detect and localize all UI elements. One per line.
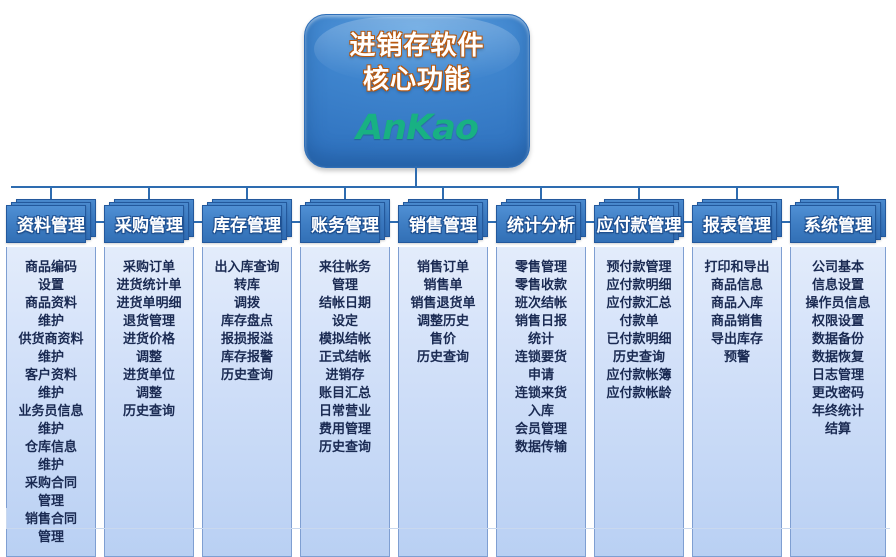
column-header-6[interactable]: 统计分析 [496,199,586,245]
column-header-label: 销售管理 [398,205,488,241]
column-header-label: 账务管理 [300,205,390,241]
column-item[interactable]: 维护 [11,313,91,330]
column-item[interactable]: 零售收款 [501,277,581,294]
column-item[interactable]: 调整历史 [403,313,483,330]
column-item[interactable]: 应付款汇总 [599,295,679,312]
column-item[interactable]: 商品入库 [697,295,777,312]
column-item[interactable]: 日常营业 [305,403,385,420]
column-item[interactable]: 销售单 [403,277,483,294]
column-item[interactable]: 采购合同 [11,475,91,492]
column-header-3[interactable]: 库存管理 [202,199,292,245]
column-item[interactable]: 调整 [109,349,189,366]
column-item[interactable]: 结帐日期 [305,295,385,312]
column-item[interactable]: 销售退货单 [403,295,483,312]
column-item[interactable]: 维护 [11,421,91,438]
root-node[interactable]: 进销存软件 核心功能 AnKao [304,14,530,168]
root-title: 进销存软件 核心功能 [305,15,529,98]
column-item[interactable]: 业务员信息 [11,403,91,420]
column-header-5[interactable]: 销售管理 [398,199,488,245]
column-item[interactable]: 应付款帐簿 [599,367,679,384]
column-item[interactable]: 公司基本 [795,259,881,276]
column-item[interactable]: 历史查询 [599,349,679,366]
column-item[interactable]: 班次结帐 [501,295,581,312]
column-body-7: 预付款管理应付款明细应付款汇总付款单已付款明细历史查询应付款帐簿应付款帐龄 [594,247,684,557]
frame-left-edge [6,508,7,529]
column-header-7[interactable]: 应付款管理 [594,199,684,245]
column-8: 报表管理打印和导出商品信息商品入库商品销售导出库存预警 [692,199,782,557]
column-item[interactable]: 设置 [11,277,91,294]
column-item[interactable]: 售价 [403,331,483,348]
column-body-2: 采购订单进货统计单进货单明细退货管理进货价格调整进货单位调整历史查询 [104,247,194,557]
column-item[interactable]: 维护 [11,385,91,402]
column-header-label: 库存管理 [202,205,292,241]
column-item[interactable]: 打印和导出 [697,259,777,276]
column-item[interactable]: 仓库信息 [11,439,91,456]
column-header-1[interactable]: 资料管理 [6,199,96,245]
column-item[interactable]: 销售日报 [501,313,581,330]
column-item[interactable]: 进货单位 [109,367,189,384]
column-item[interactable]: 模拟结帐 [305,331,385,348]
column-item[interactable]: 历史查询 [207,367,287,384]
column-item[interactable]: 预警 [697,349,777,366]
column-item[interactable]: 历史查询 [109,403,189,420]
column-item[interactable]: 零售管理 [501,259,581,276]
column-1: 资料管理商品编码设置商品资料维护供货商资料维护客户资料维护业务员信息维护仓库信息… [6,199,96,557]
column-item[interactable]: 进货统计单 [109,277,189,294]
column-item[interactable]: 应付款明细 [599,277,679,294]
column-body-9: 公司基本信息设置操作员信息权限设置数据备份数据恢复日志管理更改密码年终统计结算 [790,247,886,557]
column-item[interactable]: 已付款明细 [599,331,679,348]
column-item[interactable]: 费用管理 [305,421,385,438]
column-item[interactable]: 销售订单 [403,259,483,276]
column-item[interactable]: 入库 [501,403,581,420]
column-header-label: 资料管理 [6,205,96,241]
column-header-label: 采购管理 [104,205,194,241]
column-item[interactable]: 销售合同 [11,511,91,528]
column-header-2[interactable]: 采购管理 [104,199,194,245]
frame-baseline [6,528,890,529]
column-item[interactable]: 管理 [11,493,91,510]
column-item[interactable]: 年终统计 [795,403,881,420]
column-6: 统计分析零售管理零售收款班次结帐销售日报统计连锁要货申请连锁来货入库会员管理数据… [496,199,586,557]
column-item[interactable]: 管理 [11,529,91,546]
column-item[interactable]: 商品销售 [697,313,777,330]
column-item[interactable]: 进货单明细 [109,295,189,312]
column-item[interactable]: 数据恢复 [795,349,881,366]
column-item[interactable]: 统计 [501,331,581,348]
column-item[interactable]: 付款单 [599,313,679,330]
column-item[interactable]: 调拨 [207,295,287,312]
column-header-label: 系统管理 [790,205,886,241]
org-chart-diagram: 进销存软件 核心功能 AnKao 资料管理商品编码设置商品资料维护供货商资料维护… [0,0,896,540]
column-body-4: 来往帐务管理结帐日期设定模拟结帐正式结帐进销存账目汇总日常营业费用管理历史查询 [300,247,390,557]
column-item[interactable]: 应付款帐龄 [599,385,679,402]
column-item[interactable]: 库存盘点 [207,313,287,330]
column-header-8[interactable]: 报表管理 [692,199,782,245]
column-item[interactable]: 历史查询 [305,439,385,456]
column-header-9[interactable]: 系统管理 [790,199,886,245]
column-item[interactable]: 操作员信息 [795,295,881,312]
column-header-label: 报表管理 [692,205,782,241]
column-item[interactable]: 进销存 [305,367,385,384]
column-item[interactable]: 历史查询 [403,349,483,366]
column-item[interactable]: 客户资料 [11,367,91,384]
column-5: 销售管理销售订单销售单销售退货单调整历史售价历史查询 [398,199,488,557]
column-body-3: 出入库查询转库调拨库存盘点报损报溢库存报警历史查询 [202,247,292,557]
column-item[interactable]: 结算 [795,421,881,438]
column-item[interactable]: 数据传输 [501,439,581,456]
column-item[interactable]: 供货商资料 [11,331,91,348]
column-item[interactable]: 正式结帐 [305,349,385,366]
column-7: 应付款管理预付款管理应付款明细应付款汇总付款单已付款明细历史查询应付款帐簿应付款… [594,199,684,557]
column-4: 账务管理来往帐务管理结帐日期设定模拟结帐正式结帐进销存账目汇总日常营业费用管理历… [300,199,390,557]
column-header-label: 应付款管理 [594,205,684,241]
column-header-label: 统计分析 [496,205,586,241]
column-item[interactable]: 维护 [11,349,91,366]
column-item[interactable]: 申请 [501,367,581,384]
column-item[interactable]: 日志管理 [795,367,881,384]
column-item[interactable]: 商品编码 [11,259,91,276]
brand-logo: AnKao [305,108,529,148]
column-body-5: 销售订单销售单销售退货单调整历史售价历史查询 [398,247,488,557]
column-item[interactable]: 会员管理 [501,421,581,438]
column-item[interactable]: 报损报溢 [207,331,287,348]
column-body-6: 零售管理零售收款班次结帐销售日报统计连锁要货申请连锁来货入库会员管理数据传输 [496,247,586,557]
connector-bus [11,186,837,188]
column-9: 系统管理公司基本信息设置操作员信息权限设置数据备份数据恢复日志管理更改密码年终统… [790,199,886,557]
column-item[interactable]: 设定 [305,313,385,330]
column-item[interactable]: 出入库查询 [207,259,287,276]
column-item[interactable]: 数据备份 [795,331,881,348]
column-header-4[interactable]: 账务管理 [300,199,390,245]
column-item[interactable]: 导出库存 [697,331,777,348]
column-item[interactable]: 商品信息 [697,277,777,294]
column-item[interactable]: 管理 [305,277,385,294]
column-item[interactable]: 调整 [109,385,189,402]
column-item[interactable]: 来往帐务 [305,259,385,276]
column-item[interactable]: 连锁来货 [501,385,581,402]
column-item[interactable]: 转库 [207,277,287,294]
column-item[interactable]: 更改密码 [795,385,881,402]
column-item[interactable]: 预付款管理 [599,259,679,276]
column-2: 采购管理采购订单进货统计单进货单明细退货管理进货价格调整进货单位调整历史查询 [104,199,194,557]
column-item[interactable]: 权限设置 [795,313,881,330]
column-body-1: 商品编码设置商品资料维护供货商资料维护客户资料维护业务员信息维护仓库信息维护采购… [6,247,96,557]
column-body-8: 打印和导出商品信息商品入库商品销售导出库存预警 [692,247,782,557]
column-item[interactable]: 维护 [11,457,91,474]
column-item[interactable]: 退货管理 [109,313,189,330]
column-item[interactable]: 信息设置 [795,277,881,294]
column-item[interactable]: 连锁要货 [501,349,581,366]
column-3: 库存管理出入库查询转库调拨库存盘点报损报溢库存报警历史查询 [202,199,292,557]
root-title-line-2: 核心功能 [305,63,529,97]
column-item[interactable]: 采购订单 [109,259,189,276]
column-item[interactable]: 账目汇总 [305,385,385,402]
connector-stem [415,166,417,187]
root-title-line-1: 进销存软件 [305,29,529,63]
column-item[interactable]: 进货价格 [109,331,189,348]
column-item[interactable]: 商品资料 [11,295,91,312]
column-item[interactable]: 库存报警 [207,349,287,366]
